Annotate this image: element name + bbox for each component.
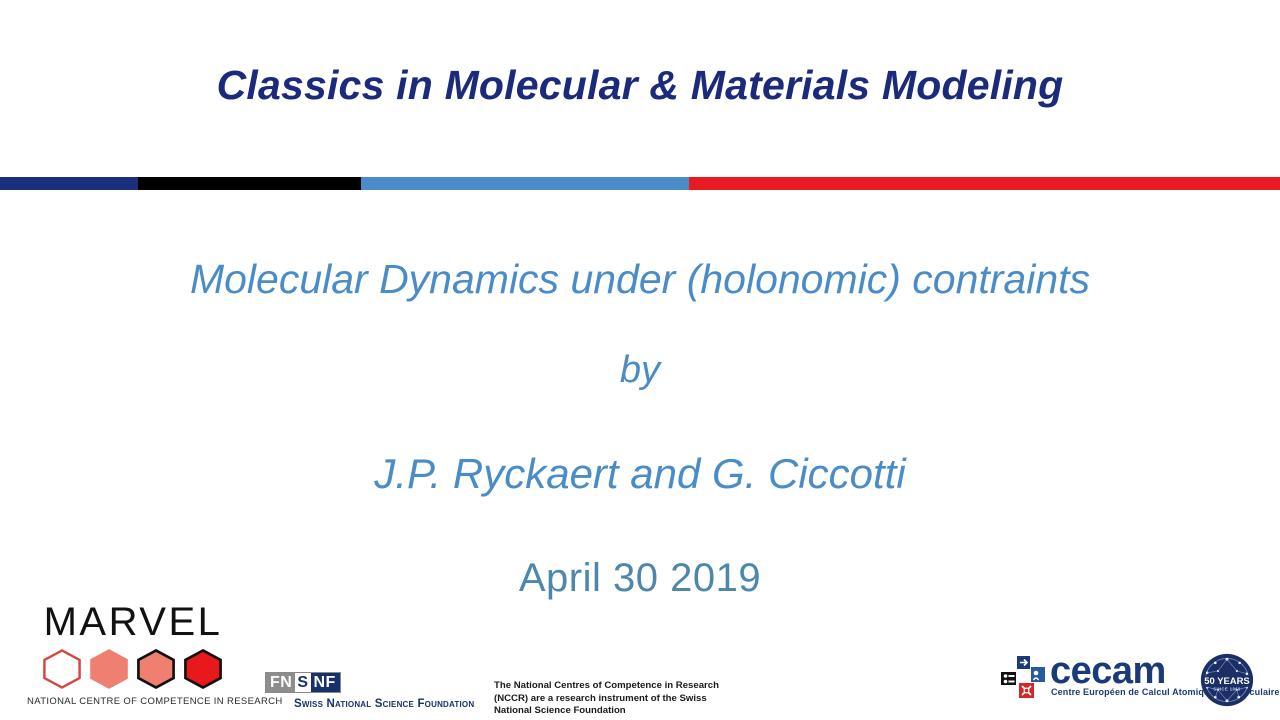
color-segment-blue <box>361 177 689 190</box>
snsf-name: Swiss National Science Foundation <box>294 698 470 710</box>
by-label: by <box>0 318 1280 422</box>
marvel-hexagon-row <box>27 647 237 691</box>
snsf-mark: FN S NF <box>265 672 341 693</box>
marvel-wordmark: MARVEL <box>27 600 237 644</box>
cecam-50-years-badge-icon: 50 YEARS SINCE 1969 <box>1200 653 1254 707</box>
color-segment-navy <box>0 177 138 190</box>
snsf-mark-nf: NF <box>311 673 340 692</box>
color-divider-bar <box>0 177 1280 190</box>
badge-bottom-text: SINCE 1969 <box>1213 686 1241 691</box>
nccr-statement: The National Centres of Competence in Re… <box>494 680 744 718</box>
snsf-logo: FN S NF Swiss National Science Foundatio… <box>265 672 470 710</box>
hexagon-icon-4 <box>184 649 222 689</box>
hexagon-icon-2 <box>90 649 128 689</box>
slide-canvas: Classics in Molecular & Materials Modeli… <box>0 0 1280 720</box>
lecture-subtitle: Molecular Dynamics under (holonomic) con… <box>0 240 1280 318</box>
color-segment-black <box>138 177 361 190</box>
authors-line: J.P. Ryckaert and G. Ciccotti <box>0 422 1280 526</box>
marvel-tagline: NATIONAL CENTRE OF COMPETENCE IN RESEARC… <box>27 696 237 707</box>
hexagon-icon-3 <box>137 649 175 689</box>
snsf-mark-fn: FN <box>266 673 295 692</box>
slide-body: Molecular Dynamics under (holonomic) con… <box>0 240 1280 630</box>
snsf-mark-s: S <box>295 673 310 692</box>
cecam-wordmark: cecam <box>1050 652 1166 690</box>
color-segment-red <box>689 177 1280 190</box>
cecam-logo: cecam Centre Européen de Calcul Atomique… <box>1000 652 1262 710</box>
hexagon-icon-1 <box>43 649 81 689</box>
marvel-logo: MARVEL NATIONAL CENTRE OF COMPETENCE IN … <box>27 600 237 707</box>
badge-top-text: 50 YEARS <box>1204 676 1249 687</box>
page-title: Classics in Molecular & Materials Modeli… <box>0 62 1280 109</box>
cecam-glyph-icon <box>1000 655 1048 701</box>
